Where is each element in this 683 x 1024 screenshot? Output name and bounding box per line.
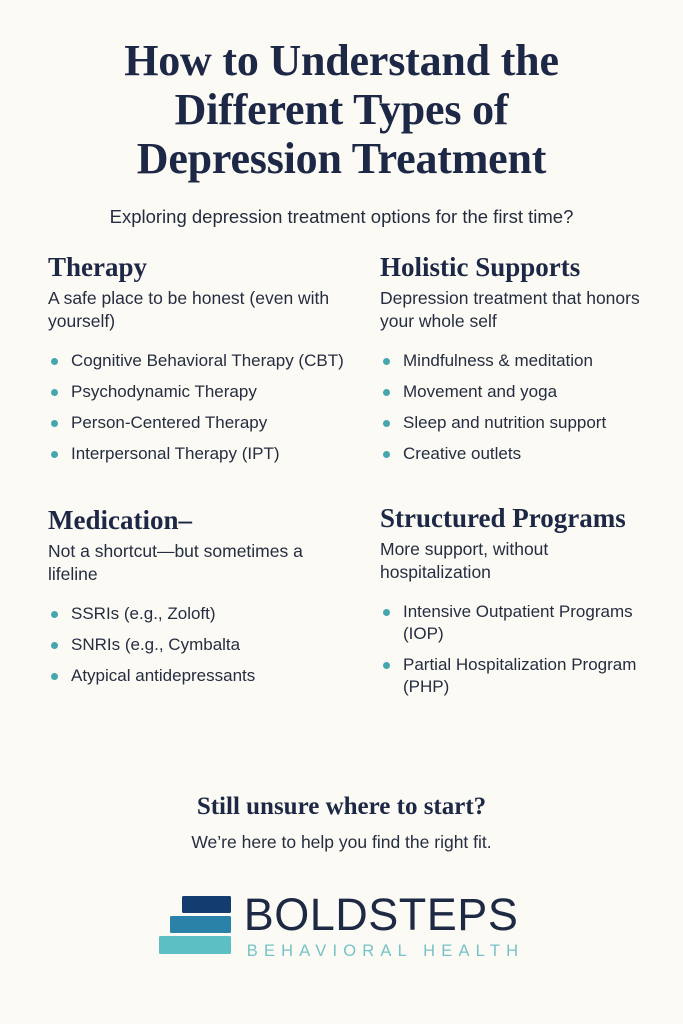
list-item-label: SNRIs (e.g., Cymbalta [71, 635, 240, 654]
list-item: Interpersonal Therapy (IPT) [48, 443, 363, 465]
list-item: Partial Hospitalization Program (PHP) [380, 654, 653, 698]
list-item: Mindfulness & meditation [380, 350, 653, 372]
page-subtitle: Exploring depression treatment options f… [52, 205, 631, 229]
infographic-poster: How to Understand the Different Types of… [0, 0, 683, 1024]
section-holistic-supports: Holistic Supports Depression treatment t… [363, 252, 653, 465]
bullet-dot-icon [51, 642, 58, 649]
bullet-dot-icon [51, 420, 58, 427]
section-description-structured-programs: More support, without hospitalization [380, 538, 653, 584]
section-description-medication: Not a shortcut—but sometimes a lifeline [48, 540, 338, 586]
bullet-dot-icon [383, 358, 390, 365]
list-item-label: Cognitive Behavioral Therapy (CBT) [71, 351, 344, 370]
sections-grid: Therapy A safe place to be honest (even … [0, 252, 683, 698]
section-description-therapy: A safe place to be honest (even with you… [48, 287, 338, 333]
cta-title: Still unsure where to start? [0, 792, 683, 822]
bullet-dot-icon [51, 673, 58, 680]
list-item-label: Person-Centered Therapy [71, 413, 267, 432]
bullet-dot-icon [383, 389, 390, 396]
page-title-line-3: Depression Treatment [52, 134, 631, 183]
list-item-label: SSRIs (e.g., Zoloft) [71, 604, 216, 623]
list-item: Intensive Outpatient Programs (IOP) [380, 601, 653, 645]
bullet-dot-icon [383, 609, 390, 616]
header-block: How to Understand the Different Types of… [0, 0, 683, 229]
cta-block: Still unsure where to start? We’re here … [0, 792, 683, 854]
list-item-label: Interpersonal Therapy (IPT) [71, 444, 280, 463]
list-item: Creative outlets [380, 443, 653, 465]
list-item-label: Partial Hospitalization Program (PHP) [403, 655, 636, 696]
logo-tagline: BEHAVIORAL HEALTH [244, 941, 524, 961]
list-item: Movement and yoga [380, 381, 653, 403]
list-item: Sleep and nutrition support [380, 412, 653, 434]
section-title-structured-programs: Structured Programs [380, 503, 653, 534]
section-title-therapy: Therapy [48, 252, 363, 283]
list-item: SNRIs (e.g., Cymbalta [48, 634, 363, 656]
bullet-dot-icon [51, 611, 58, 618]
brand-logo: BOLDSTEPS BEHAVIORAL HEALTH [0, 892, 683, 961]
bullet-dot-icon [51, 389, 58, 396]
list-item-label: Atypical antidepressants [71, 666, 255, 685]
section-list-structured-programs: Intensive Outpatient Programs (IOP) Part… [380, 601, 653, 698]
list-item: Person-Centered Therapy [48, 412, 363, 434]
section-medication: Medication– Not a shortcut—but sometimes… [48, 501, 363, 698]
cta-subtitle: We’re here to help you find the right fi… [0, 830, 683, 854]
page-title: How to Understand the Different Types of… [52, 36, 631, 183]
bullet-dot-icon [383, 451, 390, 458]
page-title-line-2: Different Types of [52, 85, 631, 134]
list-item-label: Intensive Outpatient Programs (IOP) [403, 602, 633, 643]
section-description-holistic-supports: Depression treatment that honors your wh… [380, 287, 653, 333]
list-item: SSRIs (e.g., Zoloft) [48, 603, 363, 625]
bullet-dot-icon [383, 420, 390, 427]
list-item-label: Mindfulness & meditation [403, 351, 593, 370]
bullet-dot-icon [51, 451, 58, 458]
stacked-steps-icon [159, 896, 231, 954]
section-title-medication: Medication– [48, 505, 363, 536]
list-item: Atypical antidepressants [48, 665, 363, 687]
list-item-label: Creative outlets [403, 444, 521, 463]
list-item: Psychodynamic Therapy [48, 381, 363, 403]
list-item-label: Psychodynamic Therapy [71, 382, 257, 401]
page-title-line-1: How to Understand the [52, 36, 631, 85]
section-list-therapy: Cognitive Behavioral Therapy (CBT) Psych… [48, 350, 363, 465]
section-list-holistic-supports: Mindfulness & meditation Movement and yo… [380, 350, 653, 465]
bullet-dot-icon [383, 662, 390, 669]
bullet-dot-icon [51, 358, 58, 365]
section-title-holistic-supports: Holistic Supports [380, 252, 653, 283]
section-list-medication: SSRIs (e.g., Zoloft) SNRIs (e.g., Cymbal… [48, 603, 363, 687]
logo-wordmark: BOLDSTEPS [244, 892, 524, 937]
list-item-label: Movement and yoga [403, 382, 557, 401]
section-therapy: Therapy A safe place to be honest (even … [48, 252, 363, 465]
section-structured-programs: Structured Programs More support, withou… [363, 501, 653, 698]
list-item-label: Sleep and nutrition support [403, 413, 606, 432]
list-item: Cognitive Behavioral Therapy (CBT) [48, 350, 363, 372]
